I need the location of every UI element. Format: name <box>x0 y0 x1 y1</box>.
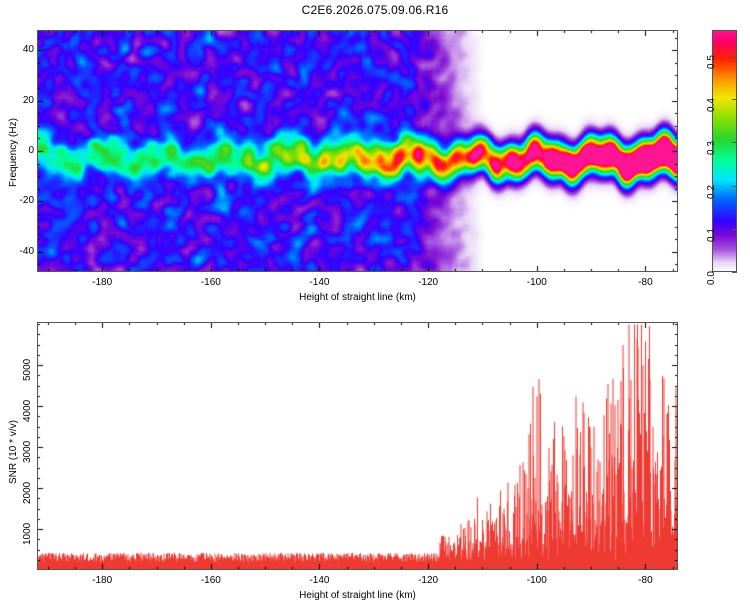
snr-y-tick: 1000 <box>22 523 33 545</box>
spectrogram-frame <box>37 30 678 272</box>
spectrogram-x-tick: -120 <box>414 277 442 288</box>
snr-x-tick: -180 <box>88 575 116 586</box>
spectrogram-x-tick: -140 <box>305 277 333 288</box>
snr-x-axis-title: Height of straight line (km) <box>37 590 678 601</box>
snr-y-tick: 4000 <box>22 400 33 422</box>
snr-y-tick: 3000 <box>22 441 33 463</box>
spectrogram-y-tick: 40 <box>8 44 34 55</box>
colorbar-tick-mark <box>732 56 737 57</box>
snr-x-tick: -80 <box>631 575 659 586</box>
snr-y-tick: 5000 <box>22 359 33 381</box>
colorbar-tick-mark <box>732 142 737 143</box>
snr-frame <box>37 322 678 570</box>
colorbar-tick-mark <box>732 186 737 187</box>
snr-x-tick: -100 <box>523 575 551 586</box>
spectrogram-x-tick: -160 <box>197 277 225 288</box>
spectrogram-y-axis-title: Frequency (Hz) <box>8 118 19 187</box>
snr-y-axis-title: SNR (10 * v/v) <box>8 420 19 484</box>
colorbar-tick: 0.2 <box>706 185 717 199</box>
spectrogram-x-axis-title: Height of straight line (km) <box>37 292 678 303</box>
figure-title: C2E6.2026.075.09.06.R16 <box>0 3 750 17</box>
spectrogram-y-tick: -20 <box>8 195 34 206</box>
snr-y-tick: 2000 <box>22 482 33 504</box>
colorbar-tick-mark <box>732 99 737 100</box>
colorbar-tick-mark <box>732 229 737 230</box>
spectrogram-y-tick: 20 <box>8 95 34 106</box>
colorbar-tick: 0.3 <box>706 141 717 155</box>
snr-x-tick: -140 <box>305 575 333 586</box>
colorbar-tick: 0.1 <box>706 228 717 242</box>
spectrogram-y-tick: -40 <box>8 246 34 257</box>
figure-root: C2E6.2026.075.09.06.R16 -180-160-140-120… <box>0 0 750 600</box>
colorbar-tick: 0.5 <box>706 55 717 69</box>
spectrogram-x-tick: -100 <box>523 277 551 288</box>
snr-x-tick: -120 <box>414 575 442 586</box>
spectrogram-x-tick: -80 <box>631 277 659 288</box>
colorbar-tick: 0.4 <box>706 98 717 112</box>
spectrogram-x-tick: -180 <box>88 277 116 288</box>
colorbar-tick: 0.0 <box>706 271 717 285</box>
snr-x-tick: -160 <box>197 575 225 586</box>
colorbar-tick-mark <box>732 272 737 273</box>
